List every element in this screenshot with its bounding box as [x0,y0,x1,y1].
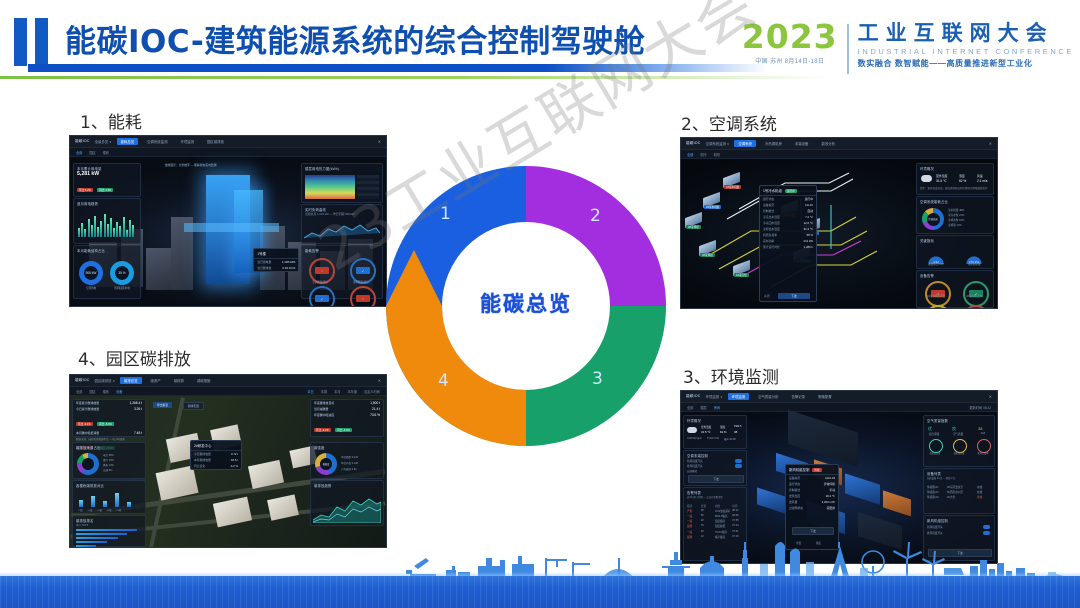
list-item[interactable]: 传感器-013F东区会议室在线 [927,484,991,489]
env-aqi-1-c: 空气质量 [946,432,970,436]
footer-band [0,576,1080,608]
env-tab-1[interactable]: 空气质量分析 [754,393,782,400]
env-r0-msg: CO2浓度超标 [715,509,730,513]
carbon-right-kpi: 年度碳排放目标1,500 t 当月减碳量21.4 t 年度碳中和进度73.6 %… [310,399,384,437]
hvac-tip-v3: 7.2 ℃ [805,215,813,219]
env-d2-k: 传感器-03 [927,495,945,499]
env-breadcrumb[interactable]: 环境监测 ∨ [706,394,723,399]
cloud-icon [687,427,697,433]
env-tip-k1: 运行状态 [789,482,800,486]
hvac-w2-v: 2.1 m/s [977,179,987,183]
cycle-center-label: 能碳总览 [378,288,674,318]
carbon-k1-v: 3.26 t [134,407,142,411]
env-r5-loc: 1F [701,535,713,539]
env-w2-k: PM2.5 [734,425,742,428]
section-label-energy: 1、能耗 [80,108,142,133]
carbon-cat-0: 1#楼 [78,508,83,512]
env-r1-t: 08:05 [732,514,744,518]
carbon-area-panel: 碳排放趋势 [310,480,384,526]
hvac-eq-label-4: 1#冷冻泵 [734,273,749,277]
carbon-rank-sub: 本月 TOP 5 [73,523,145,527]
list-item[interactable]: 传感器-032F大堂离线 [927,494,991,499]
hvac-tip-btn-1[interactable]: 下发 [778,293,810,299]
hvac-alarm-0: 1#冷水机组高温 [922,294,950,298]
hvac-l3-k: 冷却塔 [948,224,956,227]
env-aqi-title: 空气质量指数 [924,416,994,423]
carbon-filter-1[interactable]: 本周 [321,389,327,394]
energy-app-name: 能碳IOC [75,139,90,144]
hvac-l1-v: 21% [959,214,964,217]
env-s-row-0: 新风机组开关 [927,525,943,529]
hvac-l3-v: 13% [957,224,962,227]
dashboard-screenshot-hvac[interactable]: 能碳IOC 空调系统监测 ∨ 空调系统 冷热源机房 末端设备 能效分析 ✕ 全部… [680,137,998,309]
env-w1-k: 湿度 [720,425,725,429]
energy-map-note: 当前展示：全景楼宇 — 能耗状态实时监测 [162,163,217,167]
close-icon[interactable]: ✕ [989,141,992,146]
carbon-body: 年度累计碳排放量1,268.4 t 今日累计碳排放量3.26 t 环比 -3.1… [70,396,386,548]
energy-subtab-0[interactable]: 全部 [76,150,82,155]
hvac-tab-1[interactable]: 冷热源机房 [761,140,786,147]
slide-footer [0,542,1080,608]
carbon-rl1-k: 单位产值 [341,462,351,465]
hvac-kpi-0-c: 系统综合COP [921,262,951,266]
carbon-tip-k0: 今日碳排放量 [194,452,211,456]
hvac-tip-status: 运行中 [785,189,797,193]
hvac-tip-k0: 运行状态 [763,197,774,201]
carbon-left-kpi: 年度累计碳排放量1,268.4 t 今日累计碳排放量3.26 t 环比 -3.1… [72,399,146,437]
title-underline-green [0,76,830,79]
carbon-tip-v1: 18.6 t [231,458,238,462]
env-tip-v1: 异常停机 [824,482,835,486]
carbon-dl2-k: 供热 [103,464,108,467]
logo-slogan: 数实融合 数智赋能——高质量推进新型工业化 [858,58,1074,69]
slide-root: 能碳IOC-建筑能源系统的综合控制驾驶舱 2023 中国·苏州 8月14日-18… [0,0,1080,608]
env-r0-lvl: 严重 [687,509,699,513]
env-aqi-0-c: 综合评级 [922,432,946,436]
carbon-rdonut-title: 碳强度 [311,443,383,450]
env-tab-3[interactable]: 策略配置 [814,393,836,400]
hvac-donut-panel: 空调系统能耗占比 空调总耗 冷水机组 48% 冷冻水泵 21% 冷却水泵 18%… [916,196,994,234]
carbon-r-badge-2: 同比 -5.6% [335,428,352,432]
carbon-tip-k1: 本月碳排放量 [194,458,211,462]
carbon-map-tooltip[interactable]: 2#研发中心 今日碳排放量0.72 t 本月碳排放量18.6 t 同比变化-4.… [190,440,242,470]
hvac-l1-k: 冷冻水泵 [948,214,958,217]
env-r4-msg: TVOC偏高 [715,530,730,534]
energy-topbar: 能碳IOC 全景总览 ∨ 能耗总览 空调系统监测 环境监测 园区碳排放 ✕ [70,136,386,148]
carbon-tab-1[interactable]: 碳资产 [147,377,165,384]
carbon-filter-2[interactable]: 本月 [334,389,340,394]
carbon-rank-bar-0 [76,529,137,531]
env-tip-badge: 异常 [812,468,821,472]
env-subtab-0[interactable]: 全部 [687,405,693,410]
conference-logo: 2023 中国·苏州 8月14日-18日 工业互联网大会 INDUSTRIAL … [742,22,1074,78]
title-accent-bars [10,18,58,66]
carbon-tip-k2: 同比变化 [194,464,205,468]
hvac-subtab-0[interactable]: 全部 [687,152,693,157]
slide-header: 能碳IOC-建筑能源系统的综合控制驾驶舱 2023 中国·苏州 8月14日-18… [0,0,1080,90]
carbon-r-badge-1: 环比 -3.1% [314,428,331,432]
env-d0-v: 3F东区会议室 [947,485,975,489]
logo-year-block: 2023 中国·苏州 8月14日-18日 [742,22,847,65]
carbon-bar-title: 各楼栋碳排放对比 [73,481,145,488]
carbon-rdonut-center: 碳强度 [320,458,332,470]
env-r2-lvl: 一般 [687,519,699,523]
env-i1-k: TVOC [707,437,714,440]
toggle-switch[interactable] [735,459,742,463]
env-r3-t: 07:44 [732,524,744,528]
carbon-rl0-k: 单位面积 [341,456,351,459]
env-s-row-1: 排风机组开关 [927,531,943,535]
env-tip-k2: 控制模式 [789,488,800,492]
energy-badge-down: 同比 4.3% [97,188,113,192]
env-i0-k: CO2 [687,437,692,440]
hvac-tip-v2: 自动 [807,209,813,213]
energy-tip-v0: 1,108 kWh [282,260,295,264]
energy-tab-3[interactable]: 园区碳排放 [203,138,228,145]
carbon-button-export[interactable]: 导出报表 [153,402,172,408]
carbon-rl0-v: 0.043 [352,456,358,459]
toggle-switch[interactable] [983,525,990,529]
hvac-tip-v5: 32.4 ℃ [804,227,813,231]
hvac-tip-v0: 运行中 [805,197,813,201]
env-device-sub: 在线设备 24 台 — 离线 2 台 [924,476,994,480]
energy-badge-up: 环比 6.2% [77,188,93,192]
carbon-tab-0[interactable]: 碳排总览 [120,377,142,384]
table-row[interactable]: 一般 2F 温度偏高 07:58 [687,519,744,524]
dashboard-screenshot-energy[interactable]: 能碳IOC 全景总览 ∨ 能耗总览 空调系统监测 环境监测 园区碳排放 ✕ 全部… [69,135,387,307]
env-aqi-2-c: AQI [971,432,995,435]
hvac-eq-label-1: 2#冷水机组 [704,205,721,209]
carbon-subtab-1[interactable]: 园区 [89,389,95,394]
env-weather-title: 环境概况 [684,416,746,423]
section-label-hvac: 2、空调系统 [681,110,777,135]
env-r2-msg: 温度偏高 [715,519,730,523]
env-r2-loc: 2F [701,519,713,523]
hvac-weather-title: 环境概况 [917,164,993,171]
list-item[interactable]: 传感器-025F西区办公区在线 [927,489,991,494]
env-r4-lvl: 一般 [687,530,699,534]
env-i2-v: 46 dB [729,438,735,441]
energy-tab-2[interactable]: 环境监测 [176,138,198,145]
carbon-subtab-3[interactable]: 设备 [116,389,122,394]
cycle-number-2: 2 [590,206,601,226]
env-tip-v5: 需更换 [827,506,835,510]
hvac-tip-v1: CH-01 [805,203,813,207]
hvac-eq-label-2: 3#冷却塔 [686,225,701,229]
env-r5-msg: 噪声偏高 [715,535,730,539]
energy-gauge-title: 能耗告警 [302,246,382,253]
carbon-filter-0[interactable]: 本日 [307,389,313,394]
env-ctrl-button[interactable]: 下发 [688,475,744,483]
energy-heatmap-panel: 楼层用电热力图(kWh) [301,163,383,203]
hvac-eq-label-0: 1#冷水机组 [724,185,741,189]
env-tip-v0: AHU-03 [825,476,835,480]
carbon-k0-v: 1,268.4 t [130,401,142,405]
page-title: 能碳IOC-建筑能源系统的综合控制驾驶舱 [65,16,645,61]
env-th-3: 时间 [732,504,744,508]
carbon-subtabs: 全部 园区 楼栋 设备 本日 本周 本月 本年度 自定义时间 [70,387,386,396]
env-ctrl-row-1: 排风机组开关 [687,464,703,468]
energy-donut-1-cap: 空调用电 [76,286,106,290]
carbon-rank-bar-2 [76,537,118,539]
section-label-environment: 3、环境监测 [683,363,779,388]
carbon-cat-1: 2#楼 [88,508,93,512]
title-underline-blue [28,64,768,72]
hvac-weather-panel: 环境概况 室外温度 31.5 ℃ 湿度 62 % 风速 2.1 m/s 提示：室… [916,163,994,195]
env-th-0: 级别 [687,504,699,508]
env-r1-loc: 5F [701,514,713,518]
carbon-k1-k: 今日累计碳排放量 [76,407,99,411]
carbon-dl0-k: 电力 [103,454,108,457]
env-th-1: 位置 [701,504,713,508]
carbon-rl2-v: 0.91 [352,468,357,471]
hvac-alarm-1: 2#冷冻泵正常 [960,294,988,298]
logo-name-cn: 工业互联网大会 [858,22,1074,45]
hvac-tip-k1: 设备编号 [763,203,774,207]
hvac-l2-k: 冷却水泵 [948,219,958,222]
env-r1-lvl: 一般 [687,514,699,518]
hvac-tip-k3: 冷冻出水温度 [763,215,780,219]
carbon-tab-3[interactable]: 减碳措施 [193,377,215,384]
toggle-switch[interactable] [735,464,742,468]
energy-subtab-1[interactable]: 园区 [89,150,95,155]
env-r3-loc: 7F [701,524,713,528]
cycle-diagram: 1 2 3 4 能碳总览 [378,158,674,454]
table-row[interactable]: 一般 5F PM2.5偏高 08:05 [687,513,744,518]
env-subtab-1[interactable]: 楼层 [700,405,706,410]
energy-total-panel: 本月累计用电量 5,281 kW 环比 6.2% 同比 4.3% [73,163,141,197]
hvac-tip-k6: 机组负载率 [763,233,777,237]
energy-tab-1[interactable]: 空调系统监测 [143,138,171,145]
hvac-w0-v: 31.5 ℃ [936,179,947,183]
dashboard-screenshot-environment[interactable]: 能碳IOC 环境监测 ∨ 环境监测 空气质量分析 告警记录 策略配置 ✕ 全部 … [680,390,998,564]
env-tip-button[interactable]: 下发 [792,527,834,535]
hvac-l0-k: 冷水机组 [948,209,958,212]
env-r0-loc: 3F [701,509,713,513]
carbon-filter-3[interactable]: 本年度 [348,389,358,394]
hvac-subtabs: 全部 制冷 制热 [681,150,997,159]
env-time-label: 更新时间 08:42 [969,405,991,410]
env-w2-v: 38 [734,430,737,434]
carbon-subtab-0[interactable]: 全部 [76,389,82,394]
logo-date: 中国·苏州 8月14日-18日 [755,56,824,65]
energy-tip-k0: 当日用电量 [257,260,271,264]
section-label-carbon: 4、园区碳排放 [78,345,191,370]
carbon-donut-panel: 碳排放来源占比 电力 58% 燃气 19% 供热 14% 交通 9% [72,442,146,479]
env-r3-lvl: 提醒 [687,524,699,528]
carbon-intensity-panel: 碳强度 碳强度 单位面积 0.043 单位产值 0.128 人均碳排 0.91 [310,442,384,479]
table-row[interactable]: 一般 4F TVOC偏高 07:31 [687,529,744,534]
env-weather-panel: 环境概况 室外温度 31.5 ℃ 湿度 62 % PM2.5 38 CO2 61… [683,415,747,449]
env-tip-title: 新风机组控制 [789,467,809,472]
hvac-kpi-title: 关键指标 [917,236,993,243]
carbon-k0-b2: 同比 -5.6% [97,422,114,426]
hvac-l2-v: 18% [959,219,964,222]
carbon-bar-panel: 各楼栋碳排放对比 1#楼 2#楼 3#楼 4#楼 5#楼 [72,480,146,514]
hvac-subtab-1[interactable]: 制冷 [700,152,706,157]
hvac-alarm-title: 设备告警 [917,271,993,278]
energy-total-title: 本月累计用电量 [74,164,140,171]
cycle-number-3: 3 [592,369,603,389]
env-tab-0[interactable]: 环境监测 [728,393,750,400]
hvac-tip-title: 1号冷水机组 [763,188,782,193]
env-r0-t: 08:12 [732,509,744,513]
hvac-w2-k: 风速 [977,174,983,178]
hvac-alarm-panel: 设备告警 ! 1#冷水机组高温 ✓ 2#冷冻泵正常 ✓ 3#冷却塔风机异常 ! … [916,270,994,308]
energy-tab-0[interactable]: 能耗总览 [117,138,139,145]
env-th-2: 内容 [715,504,730,508]
carbon-left-note: 数据来源：园区能源管理平台 — 每小时更新 [73,437,125,441]
hvac-donut-center: 空调总耗 [927,213,940,226]
env-subtab-2[interactable]: 房间 [714,405,720,410]
env-tip-v4: 3,200 m³/h [822,500,835,504]
env-control-panel: 空调末端控制 新风机组开关 排风机组开关 自动模式 下发 [683,450,747,486]
env-r2-t: 07:58 [732,519,744,523]
env-app-name: 能碳IOC [686,394,701,399]
env-d0-s: 在线 [977,485,989,489]
hvac-tab-3[interactable]: 能效分析 [817,140,839,147]
env-r4-loc: 4F [701,530,713,534]
energy-gauge-cap-0: 空调能耗超标 [306,280,334,284]
hvac-tip-k4: 冷冻回水温度 [763,221,780,225]
energy-tip-k1: 当日碳排放 [257,266,271,270]
energy-breadcrumb[interactable]: 全景总览 ∨ [95,139,112,144]
hvac-tip-btn-0[interactable]: 关闭 [764,294,770,298]
env-tip-v3: 18.4 ℃ [826,494,835,498]
carbon-rl2-k: 人均碳排 [341,468,351,471]
env-device-panel: 设备列表 在线设备 24 台 — 离线 2 台 传感器-013F东区会议室在线 … [923,468,995,514]
logo-year: 2023 [742,22,838,52]
hvac-w1-k: 湿度 [959,174,965,178]
carbon-dl3-k: 交通 [103,469,108,472]
carbon-cat-4: 5#楼 [117,508,122,512]
env-aqi-2-v: 38 [978,426,982,431]
env-strategy-title: 新风机组控制 [924,516,994,523]
env-r3-msg: 湿度偏低 [715,524,730,528]
hvac-tip-k5: 冷却出水温度 [763,227,780,231]
carbon-cat-2: 3#楼 [97,508,102,512]
hvac-tip-k2: 控制模式 [763,209,774,213]
table-row[interactable]: 严重 3F CO2浓度超标 08:12 [687,508,744,513]
env-r1-msg: PM2.5偏高 [715,514,730,518]
hvac-app-name: 能碳IOC [686,141,701,146]
cycle-number-4: 4 [438,371,449,391]
hvac-tip-k8: 累计运行时长 [763,245,780,249]
carbon-cat-3: 4#楼 [107,508,112,512]
env-aqi-panel: 空气质量指数 优 综合评级 良 空气质量 38 AQI 温度适宜度 湿度适宜度 … [923,415,995,467]
logo-divider [847,24,849,74]
env-device-tooltip[interactable]: 新风机组控制 异常 设备编号AHU-03 运行状态异常停机 控制模式手动 送风温… [785,464,839,550]
table-row[interactable]: 提醒 1F 噪声偏高 07:16 [687,534,744,539]
env-device-title: 设备列表 [924,469,994,476]
energy-donut-2: 35 % [110,261,134,285]
env-r5-lvl: 提醒 [687,535,699,539]
carbon-tab-2[interactable]: 碳核算 [170,377,188,384]
carbon-k0-k: 年度累计碳排放量 [76,401,99,405]
hvac-tip-v7: 212 kW [804,239,813,243]
energy-alarm-panel: 能耗告警 ! 空调能耗超标 ✓ 照明能耗超标 ✓ 电梯能耗超标 ! 给排水能耗超… [301,245,383,299]
table-row[interactable]: 提醒 7F 湿度偏低 07:44 [687,524,744,529]
hvac-device-tooltip[interactable]: 1号冷水机组 运行中 运行状态运行中 设备编号CH-01 控制模式自动 冷冻出水… [759,185,817,302]
energy-tip-v1: 0.63 tCO2 [283,266,296,270]
logo-name-en: INDUSTRIAL INTERNET CONFERENCE [858,47,1074,56]
energy-gauge-cap-1: 照明能耗超标 [347,280,375,284]
energy-trend-title: 逐月用电趋势 [74,199,140,206]
hvac-breadcrumb[interactable]: 空调系统监测 ∨ [706,141,730,146]
hvac-tab-2[interactable]: 末端设备 [791,140,813,147]
energy-subtabs: 全部 园区 楼栋 [70,148,386,157]
cycle-number-1: 1 [440,204,451,224]
carbon-k0-b1: 环比 -3.1% [76,422,93,426]
env-ctrl-select[interactable]: 自动模式 [684,468,746,474]
env-d1-k: 传感器-02 [927,490,945,494]
energy-ratio-title: 本月能耗结构占比 [74,246,140,253]
env-d2-v: 2F大堂 [947,495,975,499]
dashboard-screenshot-carbon[interactable]: 能碳IOC 园区碳排放 ∨ 碳排总览 碳资产 碳核算 减碳措施 ✕ 全部 园区 … [69,374,387,548]
env-tip-k5: 过滤网状态 [789,506,803,510]
logo-name-block: 工业互联网大会 INDUSTRIAL INTERNET CONFERENCE 数… [858,22,1074,69]
env-alarm-table-sub: 近24小时 共8条 — 点击行查看详情 [684,495,746,499]
hvac-weather-note: 提示：室外温度较高，建议提前开启预冷模式以降低峰值负荷 [917,186,988,190]
hvac-tab-0[interactable]: 空调系统 [734,140,756,147]
env-i2-k: 噪声 [724,438,729,441]
carbon-dl2-v: 14% [109,464,114,467]
env-g1: 湿度适宜度 [947,451,971,455]
energy-donut-2-cap: 照明插座用电 [107,286,137,290]
env-tip-v2: 手动 [829,488,835,492]
energy-body: 当前展示：全景楼宇 — 能耗状态实时监测 本月累计用电量 5,281 kW 环比… [70,157,386,307]
env-i1-v: 0.32 [714,437,719,440]
energy-heat-title: 楼层用电热力图(kWh) [302,164,382,171]
carbon-rank-title: 碳排放排名 [73,516,145,523]
energy-curve-title: 实时负荷曲线 [302,205,382,212]
carbon-dl3-v: 9% [109,469,113,472]
env-ctrl-row-0: 新风机组开关 [687,459,703,463]
hvac-body: 1#冷水机组 2#冷水机组 3#冷却塔 4#冷却塔 1#冷冻泵 2#冷冻泵 1#… [681,159,997,309]
env-w1-v: 62 % [720,430,727,434]
energy-subtab-2[interactable]: 楼栋 [103,150,109,155]
close-icon[interactable]: ✕ [989,394,992,399]
env-d1-s: 在线 [977,490,989,494]
hvac-eq-label-3: 4#冷却塔 [700,253,715,257]
env-d1-v: 5F西区办公区 [947,490,975,494]
env-tip-k0: 设备编号 [789,476,800,480]
env-g0: 温度适宜度 [923,451,947,455]
env-tab-2[interactable]: 告警记录 [787,393,809,400]
carbon-tip-v0: 0.72 t [231,452,238,456]
energy-donut-1: 908 kW [79,261,103,285]
energy-trend-panel: 逐月用电趋势 [73,198,141,244]
energy-map-tooltip[interactable]: 1号楼 当日用电量1,108 kWh 当日碳排放0.63 tCO2 [253,248,299,272]
hvac-tip-v4: 12.6 ℃ [804,221,813,225]
carbon-k2-v: 7.48 t [134,431,142,435]
carbon-subtab-2[interactable]: 楼栋 [103,389,109,394]
env-subtabs: 全部 楼层 房间 更新时间 08:42 [681,403,997,412]
env-w0-v: 31.5 ℃ [701,430,711,434]
hvac-subtab-2[interactable]: 制热 [714,152,720,157]
carbon-button-config[interactable]: 碳排配置 [183,402,204,410]
hvac-kpi-panel: 关键指标 4.52 系统综合COP 276 kW 当前制冷量 [916,235,994,269]
cloud-icon [921,175,932,182]
energy-ratio-panel: 本月能耗结构占比 908 kW 空调用电 35 % 照明插座用电 [73,245,141,299]
carbon-rank-bar-1 [76,533,127,535]
energy-curve-sub: 当前负荷 1,024 kW — 昨日同期 968 kW [302,212,382,216]
env-tip-k3: 送风温度 [789,494,800,498]
close-icon[interactable]: ✕ [378,139,381,144]
carbon-breadcrumb[interactable]: 园区碳排放 ∨ [95,378,115,383]
env-i0-v: 612 ppm [693,437,702,440]
toggle-switch[interactable] [983,531,990,535]
